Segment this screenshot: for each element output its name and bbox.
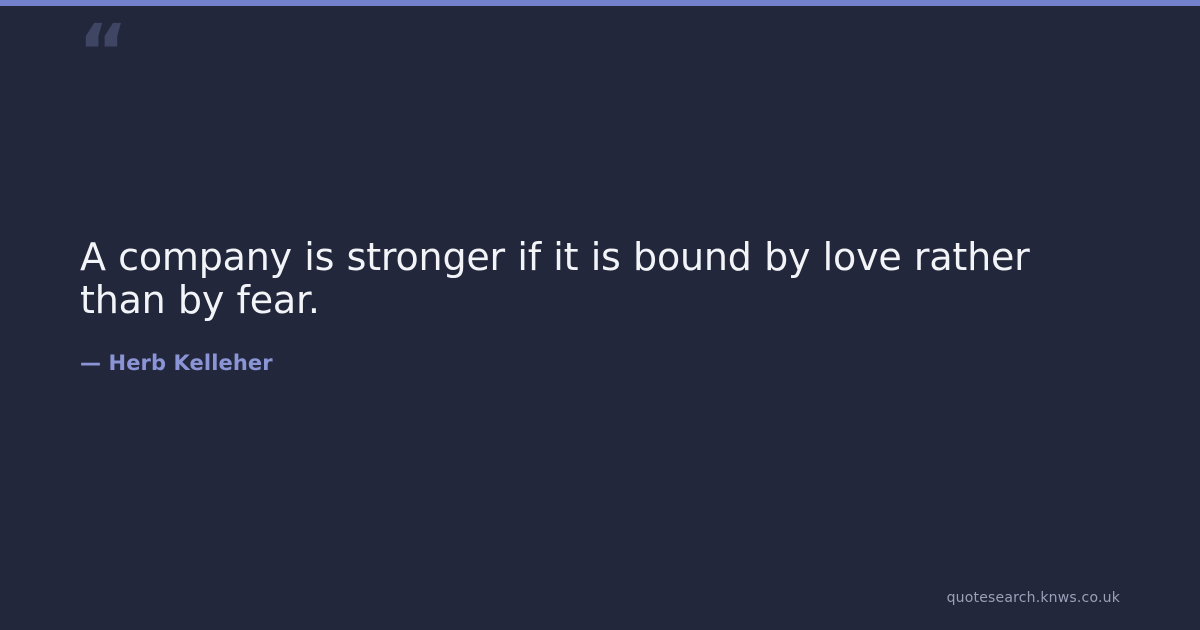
open-quote-icon: “ bbox=[78, 14, 126, 90]
attribution-dash: — bbox=[80, 351, 101, 375]
top-accent-bar bbox=[0, 0, 1200, 6]
quote-attribution: — Herb Kelleher bbox=[80, 322, 1120, 376]
site-watermark: quotesearch.knws.co.uk bbox=[947, 589, 1120, 607]
quote-card: “ A company is stronger if it is bound b… bbox=[0, 0, 1200, 630]
quote-text: A company is stronger if it is bound by … bbox=[80, 236, 1120, 322]
quote-content: A company is stronger if it is bound by … bbox=[80, 236, 1120, 376]
quote-author: Herb Kelleher bbox=[109, 351, 273, 375]
